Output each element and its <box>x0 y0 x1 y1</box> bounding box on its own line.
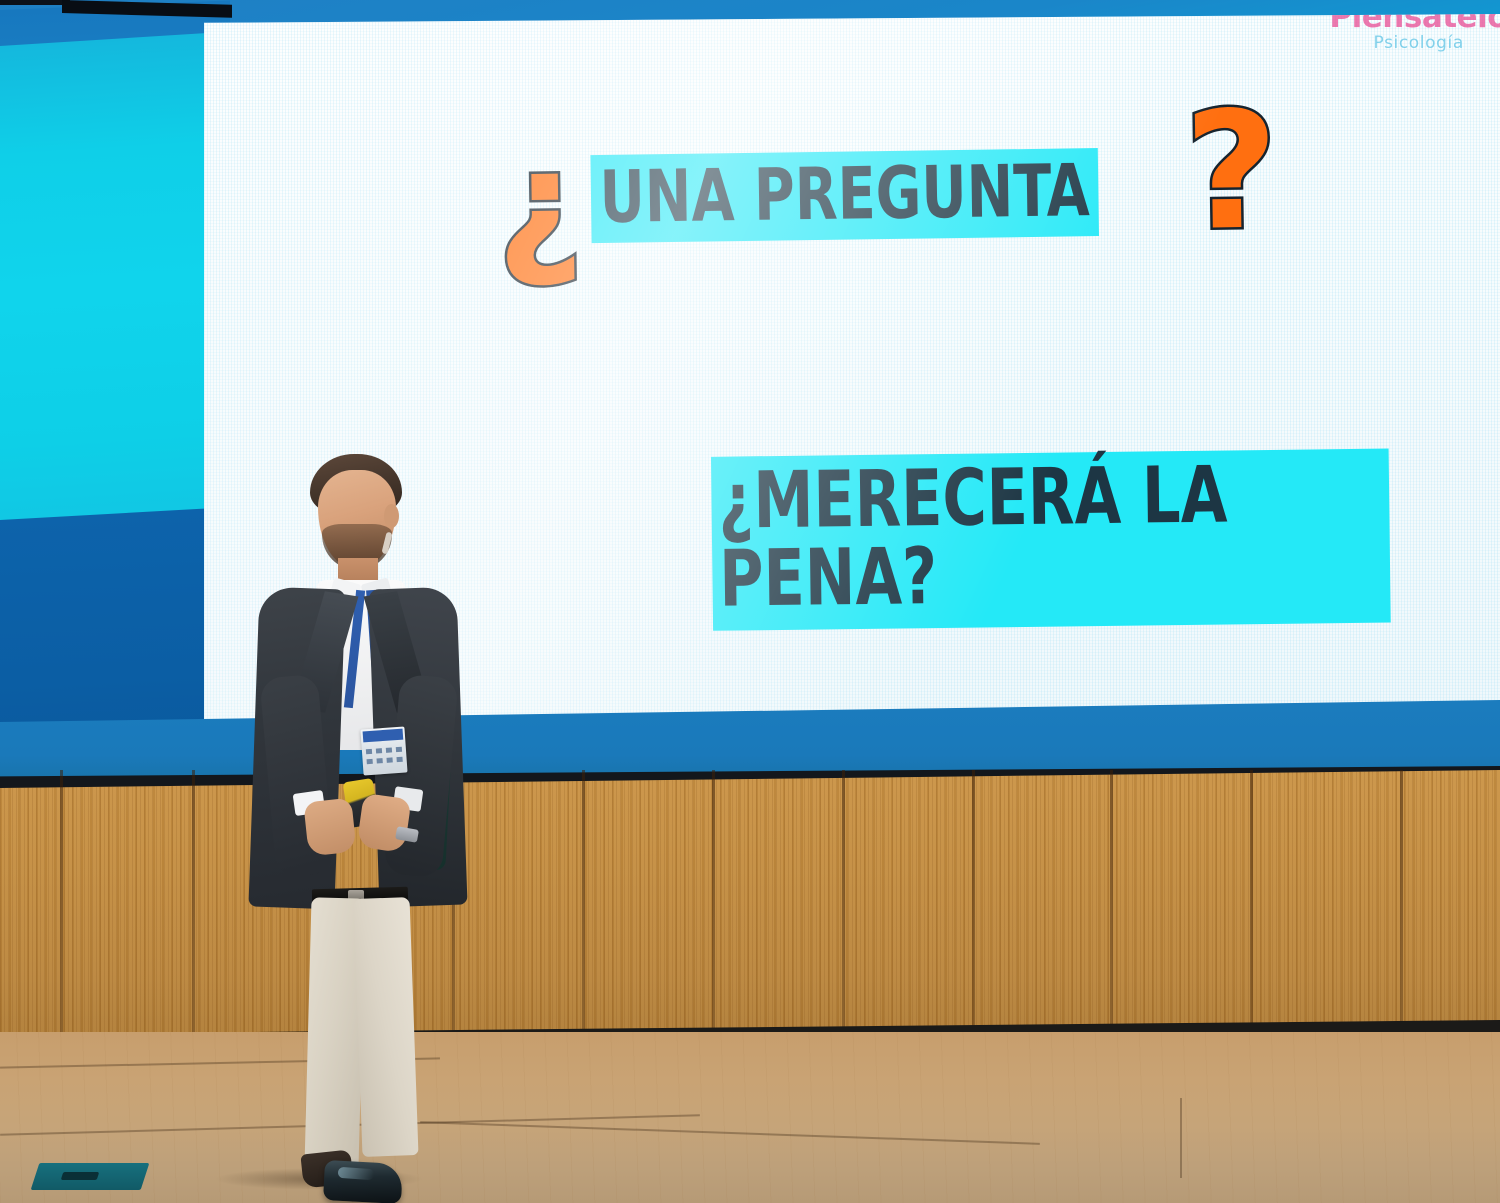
shoe-front <box>323 1160 403 1203</box>
trouser-leg-right <box>354 897 419 1157</box>
badge-logo-mark <box>366 749 372 754</box>
wood-panel-seam <box>60 770 63 1070</box>
speaker-figure <box>246 440 476 1203</box>
speaker-ear <box>384 504 399 528</box>
brand-logo-tagline: Psicología <box>1329 35 1500 52</box>
wood-panel-seam <box>192 770 195 1070</box>
wood-panel-seam <box>972 770 975 1070</box>
badge-logo-mark <box>396 757 402 762</box>
brand-logo-name: Piénsatelo <box>1329 14 1500 33</box>
slide-headline-line-1: ¿ UNA PREGUNTA ? <box>495 104 1280 287</box>
slide-headline-text-1: UNA PREGUNTA <box>590 148 1098 243</box>
question-mark-icon: ? <box>1184 104 1280 243</box>
stage-photo: Piénsatelo Psicología ¿ UNA PREGUNTA ? ¿… <box>0 0 1500 1203</box>
wood-panel-seam <box>712 770 715 1070</box>
floor-seam <box>1180 1098 1182 1178</box>
slide-headline-text-2: ¿MERECERÁ LA PENA? <box>711 449 1391 631</box>
slide-headline-line-2: ¿MERECERÁ LA PENA? <box>711 447 1500 631</box>
floor-access-plate-slot <box>61 1172 100 1180</box>
badge-logo-mark <box>367 759 373 764</box>
ceiling-shadow-left <box>0 0 70 5</box>
badge-logo-mark <box>386 757 392 762</box>
brand-logo: Piénsatelo Psicología <box>1329 14 1500 52</box>
speaker-hand-left <box>303 798 356 857</box>
badge-logo-mark <box>376 748 382 753</box>
conference-badge <box>360 727 407 776</box>
inverted-question-mark-icon: ¿ <box>495 141 584 270</box>
badge-logo-mark <box>396 747 402 752</box>
badge-logo-mark <box>386 747 392 752</box>
wood-panel-seam <box>582 770 585 1070</box>
badge-logo-mark <box>377 758 383 763</box>
badge-header-bar <box>363 729 404 743</box>
floor-seam <box>420 1121 1040 1145</box>
wood-panel-seam <box>842 770 845 1070</box>
